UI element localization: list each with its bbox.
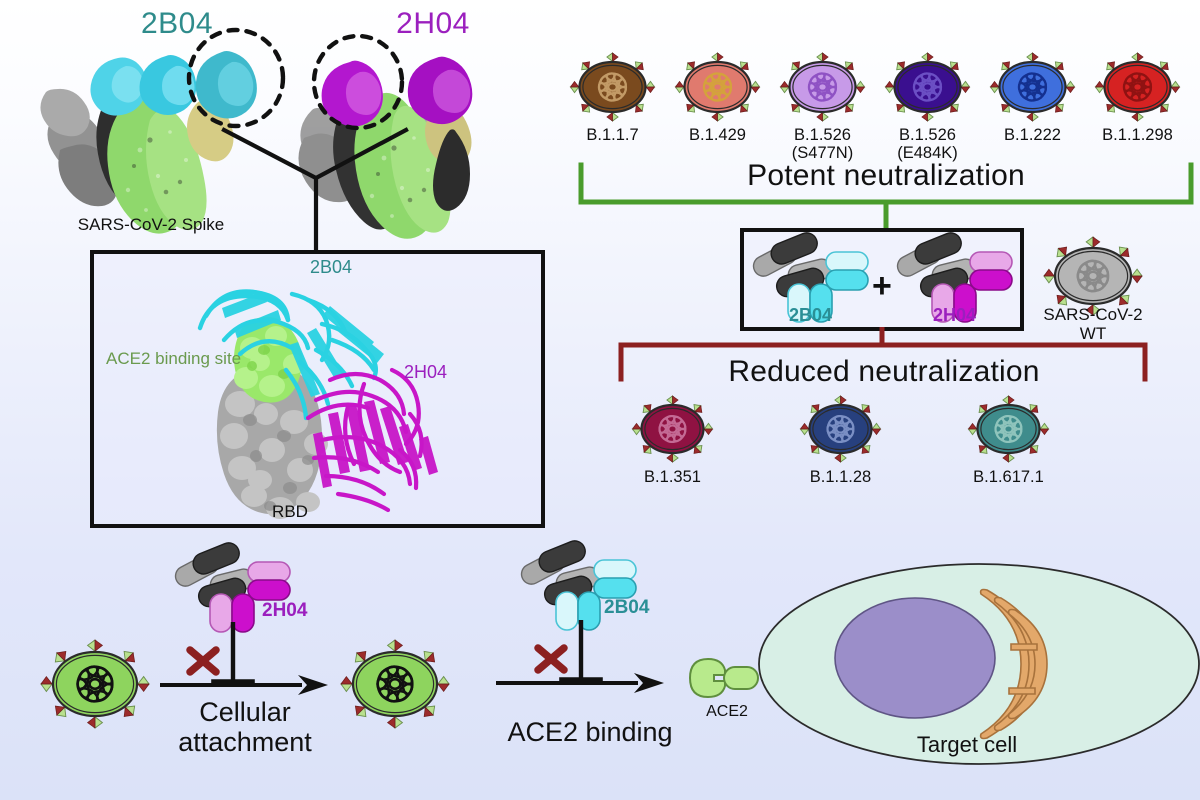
spike-2h04-label: 2H04 xyxy=(396,8,470,40)
variant-virion-icon xyxy=(620,390,725,468)
flow-step2-label: ACE2 binding xyxy=(507,718,672,748)
variant-name: B.1.222 xyxy=(1004,127,1061,145)
spike-caption: SARS-CoV-2 Spike xyxy=(78,216,224,234)
rbd-inset-panel xyxy=(90,250,545,528)
variant-name: B.1.617.1 xyxy=(973,469,1044,487)
variant-virion-icon xyxy=(875,48,980,126)
variant-label: B.1.429 xyxy=(689,127,746,145)
spike-structures-panel xyxy=(0,0,580,250)
target-cell-label-text: Target cell xyxy=(917,732,1017,757)
variant-virion-icon xyxy=(560,48,665,126)
flow-step1-line1: Cellular xyxy=(178,698,312,728)
variant-item[interactable]: B.1.222 xyxy=(980,48,1085,126)
flow-step1-label: Cellular attachment xyxy=(178,698,312,757)
antibody-plus-sign: + xyxy=(872,268,892,305)
variant-item[interactable]: B.1.351 xyxy=(620,390,725,468)
variant-item[interactable]: B.1.617.1 xyxy=(956,390,1061,468)
figure-canvas: 2B04 2H04 SARS-CoV-2 Spike xyxy=(0,0,1200,800)
rbd-2b04-label: 2B04 xyxy=(310,258,352,277)
rbd-label: RBD xyxy=(272,503,308,521)
block-x-icon xyxy=(190,650,216,672)
variant-virion-icon xyxy=(788,390,893,468)
flow-arrow-1 xyxy=(160,672,332,700)
nucleus xyxy=(835,598,995,718)
variant-virion-icon xyxy=(770,48,875,126)
spike-2b04-label: 2B04 xyxy=(141,8,213,40)
spike-structure-2h04 xyxy=(298,36,472,239)
target-cell-glyph: Target cell xyxy=(755,540,1200,790)
variant-name: B.1.526 xyxy=(897,127,958,145)
rbd-2h04-label: 2H04 xyxy=(404,363,447,382)
variant-name: B.1.1.28 xyxy=(810,469,871,487)
variant-item[interactable]: B.1.1.298 xyxy=(1085,48,1190,126)
variant-label: B.1.526(S477N) xyxy=(792,127,853,163)
variant-virion-icon xyxy=(665,48,770,126)
variant-name: B.1.526 xyxy=(792,127,853,145)
variant-name: B.1.429 xyxy=(689,127,746,145)
ace2-binding-site-label: ACE2 binding site xyxy=(106,350,241,368)
variant-item[interactable]: B.1.429 xyxy=(665,48,770,126)
potent-bracket-label: Potent neutralization xyxy=(747,160,1025,192)
reduced-bracket-label: Reduced neutralization xyxy=(728,356,1039,388)
variant-virion-icon xyxy=(1085,48,1190,126)
flow-step1-line2: attachment xyxy=(178,728,312,758)
variant-label: B.1.526(E484K) xyxy=(897,127,958,163)
block-x-icon xyxy=(538,648,564,670)
variant-virion-icon xyxy=(956,390,1061,468)
variant-virion-icon xyxy=(980,48,1085,126)
variant-label: B.1.1.28 xyxy=(810,469,871,487)
spike-structure-2b04 xyxy=(40,30,283,234)
variant-name: B.1.1.7 xyxy=(586,127,638,145)
flow-2b04-label: 2B04 xyxy=(604,598,649,619)
flow-virus-2 xyxy=(332,632,458,736)
antibody-box-2h04-label: 2H04 xyxy=(933,306,976,325)
variant-item[interactable]: B.1.526(S477N) xyxy=(770,48,875,126)
variant-label: B.1.617.1 xyxy=(973,469,1044,487)
variant-item[interactable]: B.1.1.28 xyxy=(788,390,893,468)
wt-virus-name-line1: SARS-CoV-2 xyxy=(1043,305,1142,324)
variant-label: B.1.222 xyxy=(1004,127,1061,145)
variant-name: B.1.1.298 xyxy=(1102,127,1173,145)
flow-2h04-label: 2H04 xyxy=(262,601,307,622)
variant-label: B.1.351 xyxy=(644,469,701,487)
variant-item[interactable]: B.1.526(E484K) xyxy=(875,48,980,126)
variant-name: B.1.351 xyxy=(644,469,701,487)
flow-arrow-2 xyxy=(496,670,668,698)
variant-label: B.1.1.298 xyxy=(1102,127,1173,145)
variant-item[interactable]: B.1.1.7 xyxy=(560,48,665,126)
flow-virus-1 xyxy=(32,632,158,736)
ace2-label: ACE2 xyxy=(706,703,748,720)
variant-label: B.1.1.7 xyxy=(586,127,638,145)
antibody-box-2b04-label: 2B04 xyxy=(789,306,832,325)
